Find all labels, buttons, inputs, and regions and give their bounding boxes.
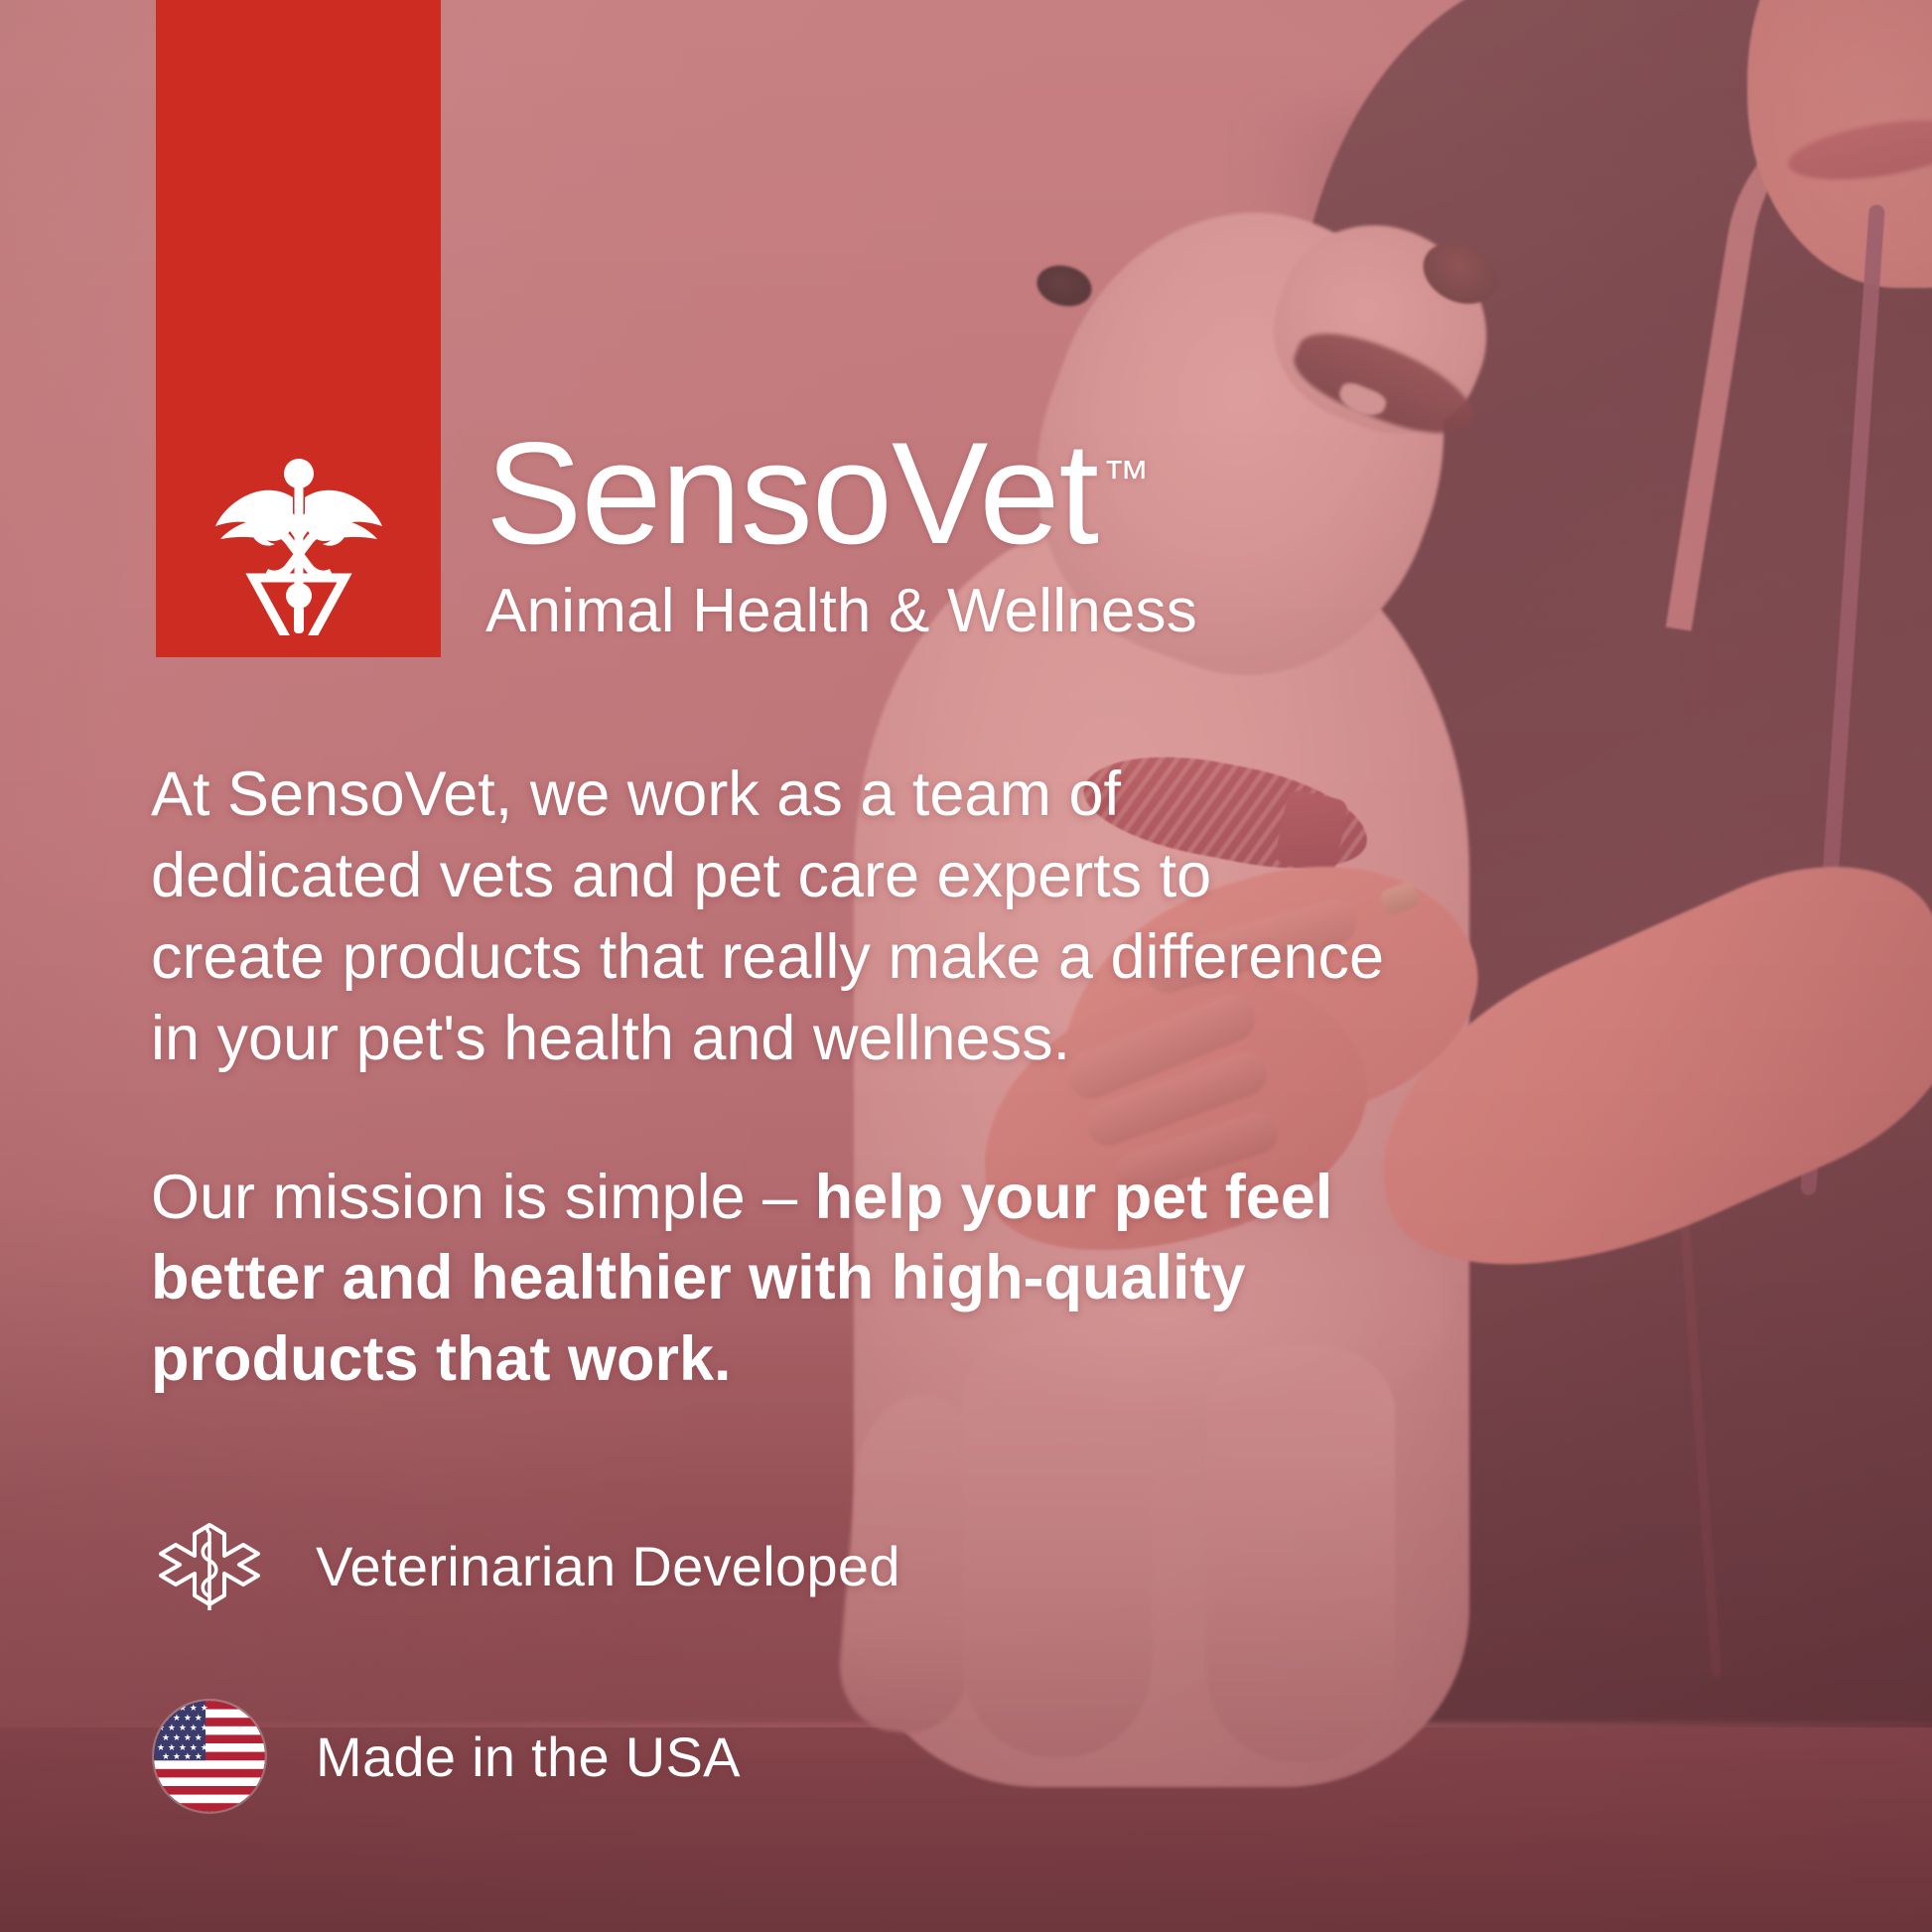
brand-tagline: Animal Health & Wellness bbox=[485, 576, 1478, 646]
trademark-symbol: ™ bbox=[1102, 452, 1150, 504]
svg-text:★ ★ ★ ★: ★ ★ ★ ★ bbox=[162, 1733, 203, 1743]
svg-text:★ ★ ★ ★ ★: ★ ★ ★ ★ ★ bbox=[157, 1724, 208, 1733]
usa-flag-icon: ★ ★ ★ ★ ★ ★ ★ ★ ★ ★ ★ ★ ★ ★ ★ ★ ★ ★ ★ ★ … bbox=[151, 1698, 268, 1815]
body-copy: At SensoVet, we work as a team of dedica… bbox=[151, 755, 1392, 1401]
brand-block: SensoVet™ Animal Health & Wellness bbox=[485, 421, 1478, 646]
paragraph-about: At SensoVet, we work as a team of dedica… bbox=[151, 755, 1392, 1080]
svg-text:★ ★ ★ ★: ★ ★ ★ ★ bbox=[162, 1752, 203, 1762]
badge-made-in-usa: ★ ★ ★ ★ ★ ★ ★ ★ ★ ★ ★ ★ ★ ★ ★ ★ ★ ★ ★ ★ … bbox=[151, 1682, 1342, 1831]
badge-label: Veterinarian Developed bbox=[316, 1534, 900, 1598]
badge-veterinarian-developed: Veterinarian Developed bbox=[151, 1491, 1342, 1640]
mission-lead-text: Our mission is simple – bbox=[151, 1163, 815, 1232]
promo-banner: SensoVet™ Animal Health & Wellness At Se… bbox=[0, 0, 1932, 1932]
brand-logo-banner bbox=[156, 0, 441, 657]
svg-text:★ ★ ★ ★: ★ ★ ★ ★ bbox=[162, 1714, 203, 1724]
brand-name-text: SensoVet bbox=[485, 412, 1098, 574]
star-of-life-icon bbox=[151, 1507, 268, 1624]
brand-name: SensoVet™ bbox=[485, 421, 1478, 566]
veterinary-caduceus-icon bbox=[213, 457, 384, 635]
svg-text:★ ★ ★ ★ ★: ★ ★ ★ ★ ★ bbox=[157, 1704, 208, 1714]
paragraph-mission: Our mission is simple – help your pet fe… bbox=[151, 1158, 1392, 1402]
badge-list: Veterinarian Developed bbox=[151, 1491, 1342, 1872]
paragraph-spacer bbox=[151, 1080, 1392, 1158]
badge-label: Made in the USA bbox=[316, 1725, 741, 1789]
